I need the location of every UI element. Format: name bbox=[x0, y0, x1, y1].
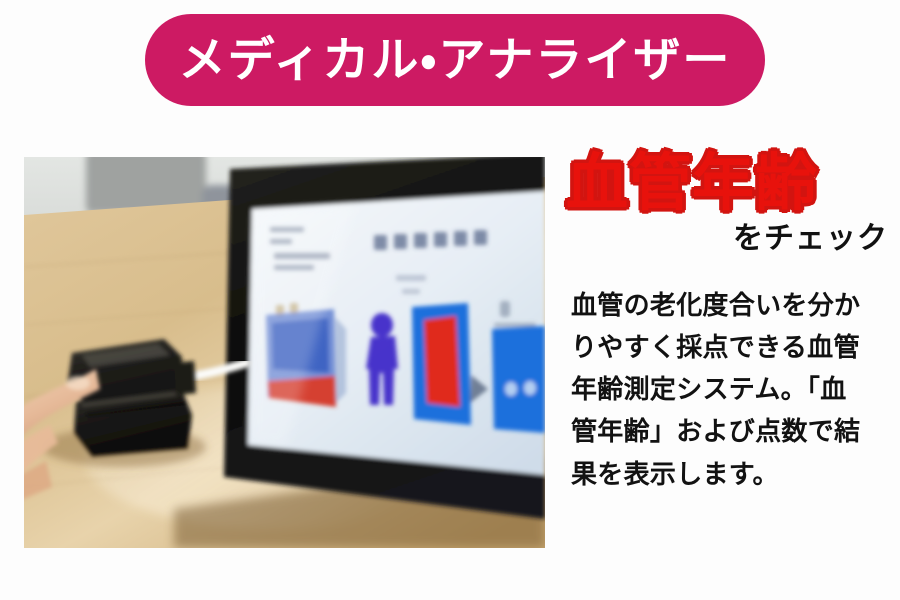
body-copy-line: 血管の老化度合いを分か bbox=[571, 285, 888, 327]
body-copy-line: 果を表示します。 bbox=[571, 454, 888, 496]
body-copy-line: りやすく採点できる血管 bbox=[571, 327, 888, 369]
right-column: 血管年齢 をチェック 血管の老化度合いを分か りやすく採点できる血管 年齢測定シ… bbox=[566, 150, 888, 496]
body-copy-line: 年齢測定システム。「血 bbox=[571, 369, 888, 411]
product-photo-illustration bbox=[24, 157, 545, 548]
promo-page: メディカル・アナライザー bbox=[0, 0, 900, 600]
title-banner: メディカル・アナライザー bbox=[145, 14, 765, 106]
body-copy-line: 管年齢」および点数で結 bbox=[571, 411, 888, 453]
headline-main: 血管年齢 bbox=[566, 150, 888, 215]
product-photo bbox=[24, 157, 545, 548]
headline-sub: をチェック bbox=[566, 221, 888, 257]
title-banner-label: メディカル・アナライザー bbox=[179, 37, 732, 84]
body-copy: 血管の老化度合いを分か りやすく採点できる血管 年齢測定システム。「血 管年齢」… bbox=[571, 285, 888, 496]
